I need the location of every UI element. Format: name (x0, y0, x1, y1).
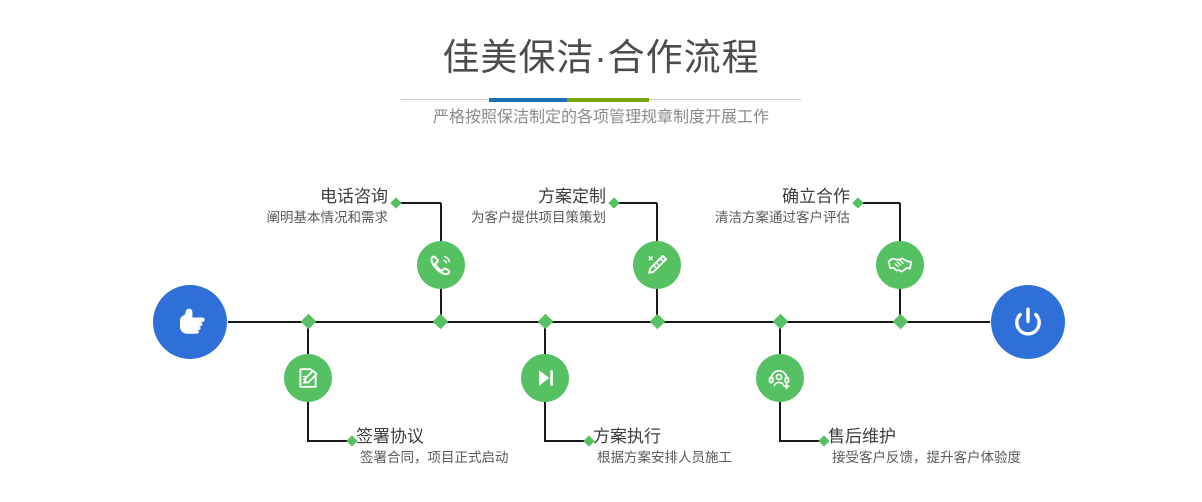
connector-horizontal-confirm (858, 202, 900, 204)
step-desc-execute: 根据方案安排人员施工 (593, 448, 732, 468)
step-desc-aftersales: 接受客户反馈，提升客户体验度 (828, 448, 1021, 468)
timeline-axis (228, 321, 990, 323)
axis-node-marker (773, 314, 789, 330)
title-divider (401, 98, 801, 102)
connector-horizontal-consult (396, 202, 441, 204)
connector-horizontal-plan (614, 202, 657, 204)
flow-start-marker (153, 285, 227, 359)
step-icon-execute[interactable] (521, 354, 569, 402)
step-title-execute: 方案执行 (593, 426, 732, 448)
axis-node-marker (650, 314, 666, 330)
step-icon-aftersales[interactable] (756, 354, 804, 402)
pointing-hand-icon (168, 300, 212, 344)
step-desc-confirm: 清洁方案通过客户评估 (450, 208, 850, 228)
document-edit-icon (293, 363, 323, 393)
step-label-sign: 签署协议 签署合同，项目正式启动 (356, 426, 509, 468)
label-marker-confirm (852, 197, 863, 208)
page-title: 佳美保洁·合作流程 (0, 36, 1202, 80)
customer-service-add-icon (765, 363, 795, 393)
step-label-confirm: 确立合作 清洁方案通过客户评估 (450, 186, 850, 228)
divider-segment-green (567, 98, 649, 102)
handshake-icon (885, 250, 915, 280)
axis-node-marker (301, 314, 317, 330)
flow-end-marker (991, 285, 1065, 359)
step-desc-sign: 签署合同，项目正式启动 (356, 448, 509, 468)
pencil-design-icon (642, 250, 672, 280)
step-title-sign: 签署协议 (356, 426, 509, 448)
axis-node-marker (538, 314, 554, 330)
step-icon-consult[interactable] (417, 241, 465, 289)
axis-node-marker (433, 314, 449, 330)
phone-call-icon (426, 250, 456, 280)
step-label-aftersales: 售后维护 接受客户反馈，提升客户体验度 (828, 426, 1021, 468)
infographic-canvas: 佳美保洁·合作流程 严格按照保洁制定的各项管理规章制度开展工作 (0, 0, 1202, 502)
step-icon-sign[interactable] (284, 354, 332, 402)
divider-segment-blue (489, 98, 567, 102)
step-icon-plan[interactable] (633, 241, 681, 289)
step-label-execute: 方案执行 根据方案安排人员施工 (593, 426, 732, 468)
play-to-end-icon (530, 363, 560, 393)
step-title-confirm: 确立合作 (450, 186, 850, 208)
step-icon-confirm[interactable] (876, 241, 924, 289)
page-subtitle: 严格按照保洁制定的各项管理规章制度开展工作 (0, 106, 1202, 130)
power-icon (1006, 300, 1050, 344)
step-title-aftersales: 售后维护 (828, 426, 1021, 448)
axis-node-marker (893, 314, 909, 330)
